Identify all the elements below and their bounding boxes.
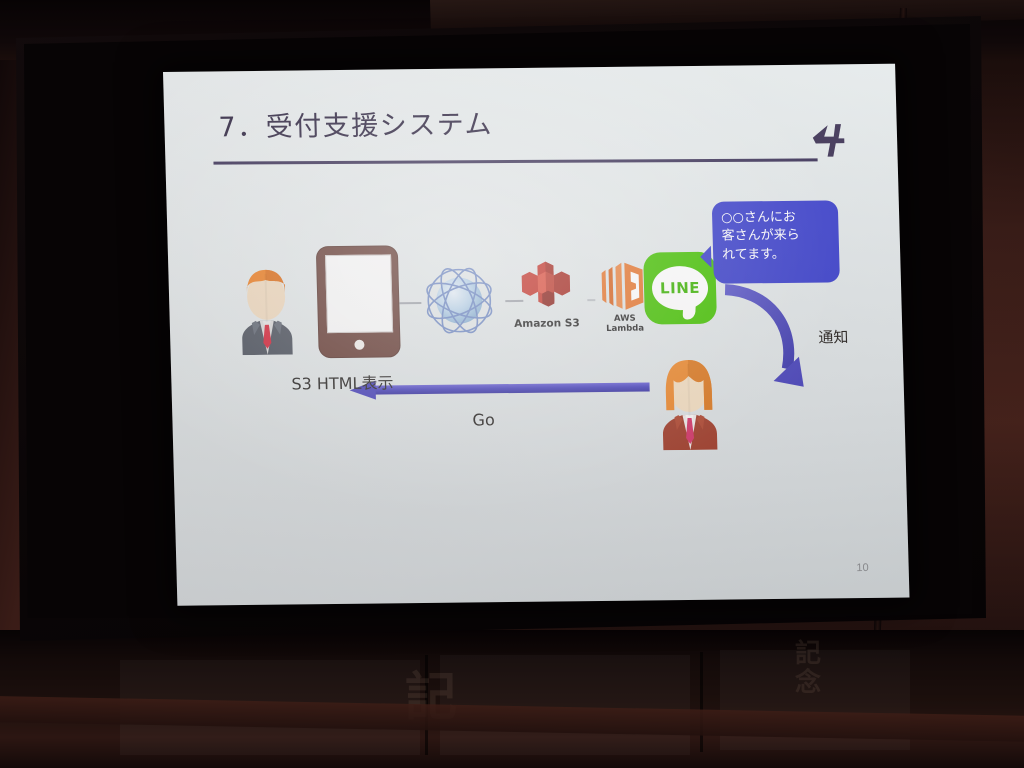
slide-canvas: 7．受付支援システム: [163, 64, 909, 606]
aws-lambda-label-line2: Lambda: [594, 324, 656, 334]
go-label: Go: [472, 410, 495, 429]
bubble-line-2: 客さんが来ら: [721, 227, 830, 247]
receptionist-avatar: [651, 354, 728, 451]
wall-signage-glyph: 記念: [795, 640, 821, 697]
businessman-avatar: [230, 262, 302, 355]
notify-label: 通知: [818, 326, 849, 347]
notify-arrow: [709, 283, 822, 406]
presentation-slide: 7．受付支援システム: [163, 64, 909, 606]
line-app-label: LINE: [660, 279, 700, 297]
bubble-line-1: ○○さんにお: [721, 208, 830, 228]
amazon-s3-label: Amazon S3: [510, 317, 584, 330]
panel-divider: [700, 652, 703, 752]
tablet-device: [316, 245, 401, 358]
go-arrow: [349, 374, 650, 403]
slide-page-number: 10: [856, 562, 869, 574]
lightning-bolt-logo: [807, 120, 850, 160]
tablet-home-button: [354, 340, 364, 350]
title-underline: [213, 158, 817, 164]
internet-globe-icon: [412, 256, 506, 345]
notification-speech-bubble: ○○さんにお 客さんが来ら れてます。: [712, 200, 840, 283]
amazon-s3-icon: [517, 259, 575, 316]
tablet-screen: [325, 254, 393, 333]
line-speech-bubble-glyph: LINE: [651, 266, 708, 311]
page-title: 7．受付支援システム: [218, 102, 493, 144]
s3-html-caption: S3 HTML表示: [291, 369, 394, 394]
bubble-line-3: れてます。: [722, 245, 831, 265]
amazon-s3-node: Amazon S3: [508, 259, 584, 316]
screenshot-root: 記 記念 7．受付支援システム: [0, 0, 1024, 768]
